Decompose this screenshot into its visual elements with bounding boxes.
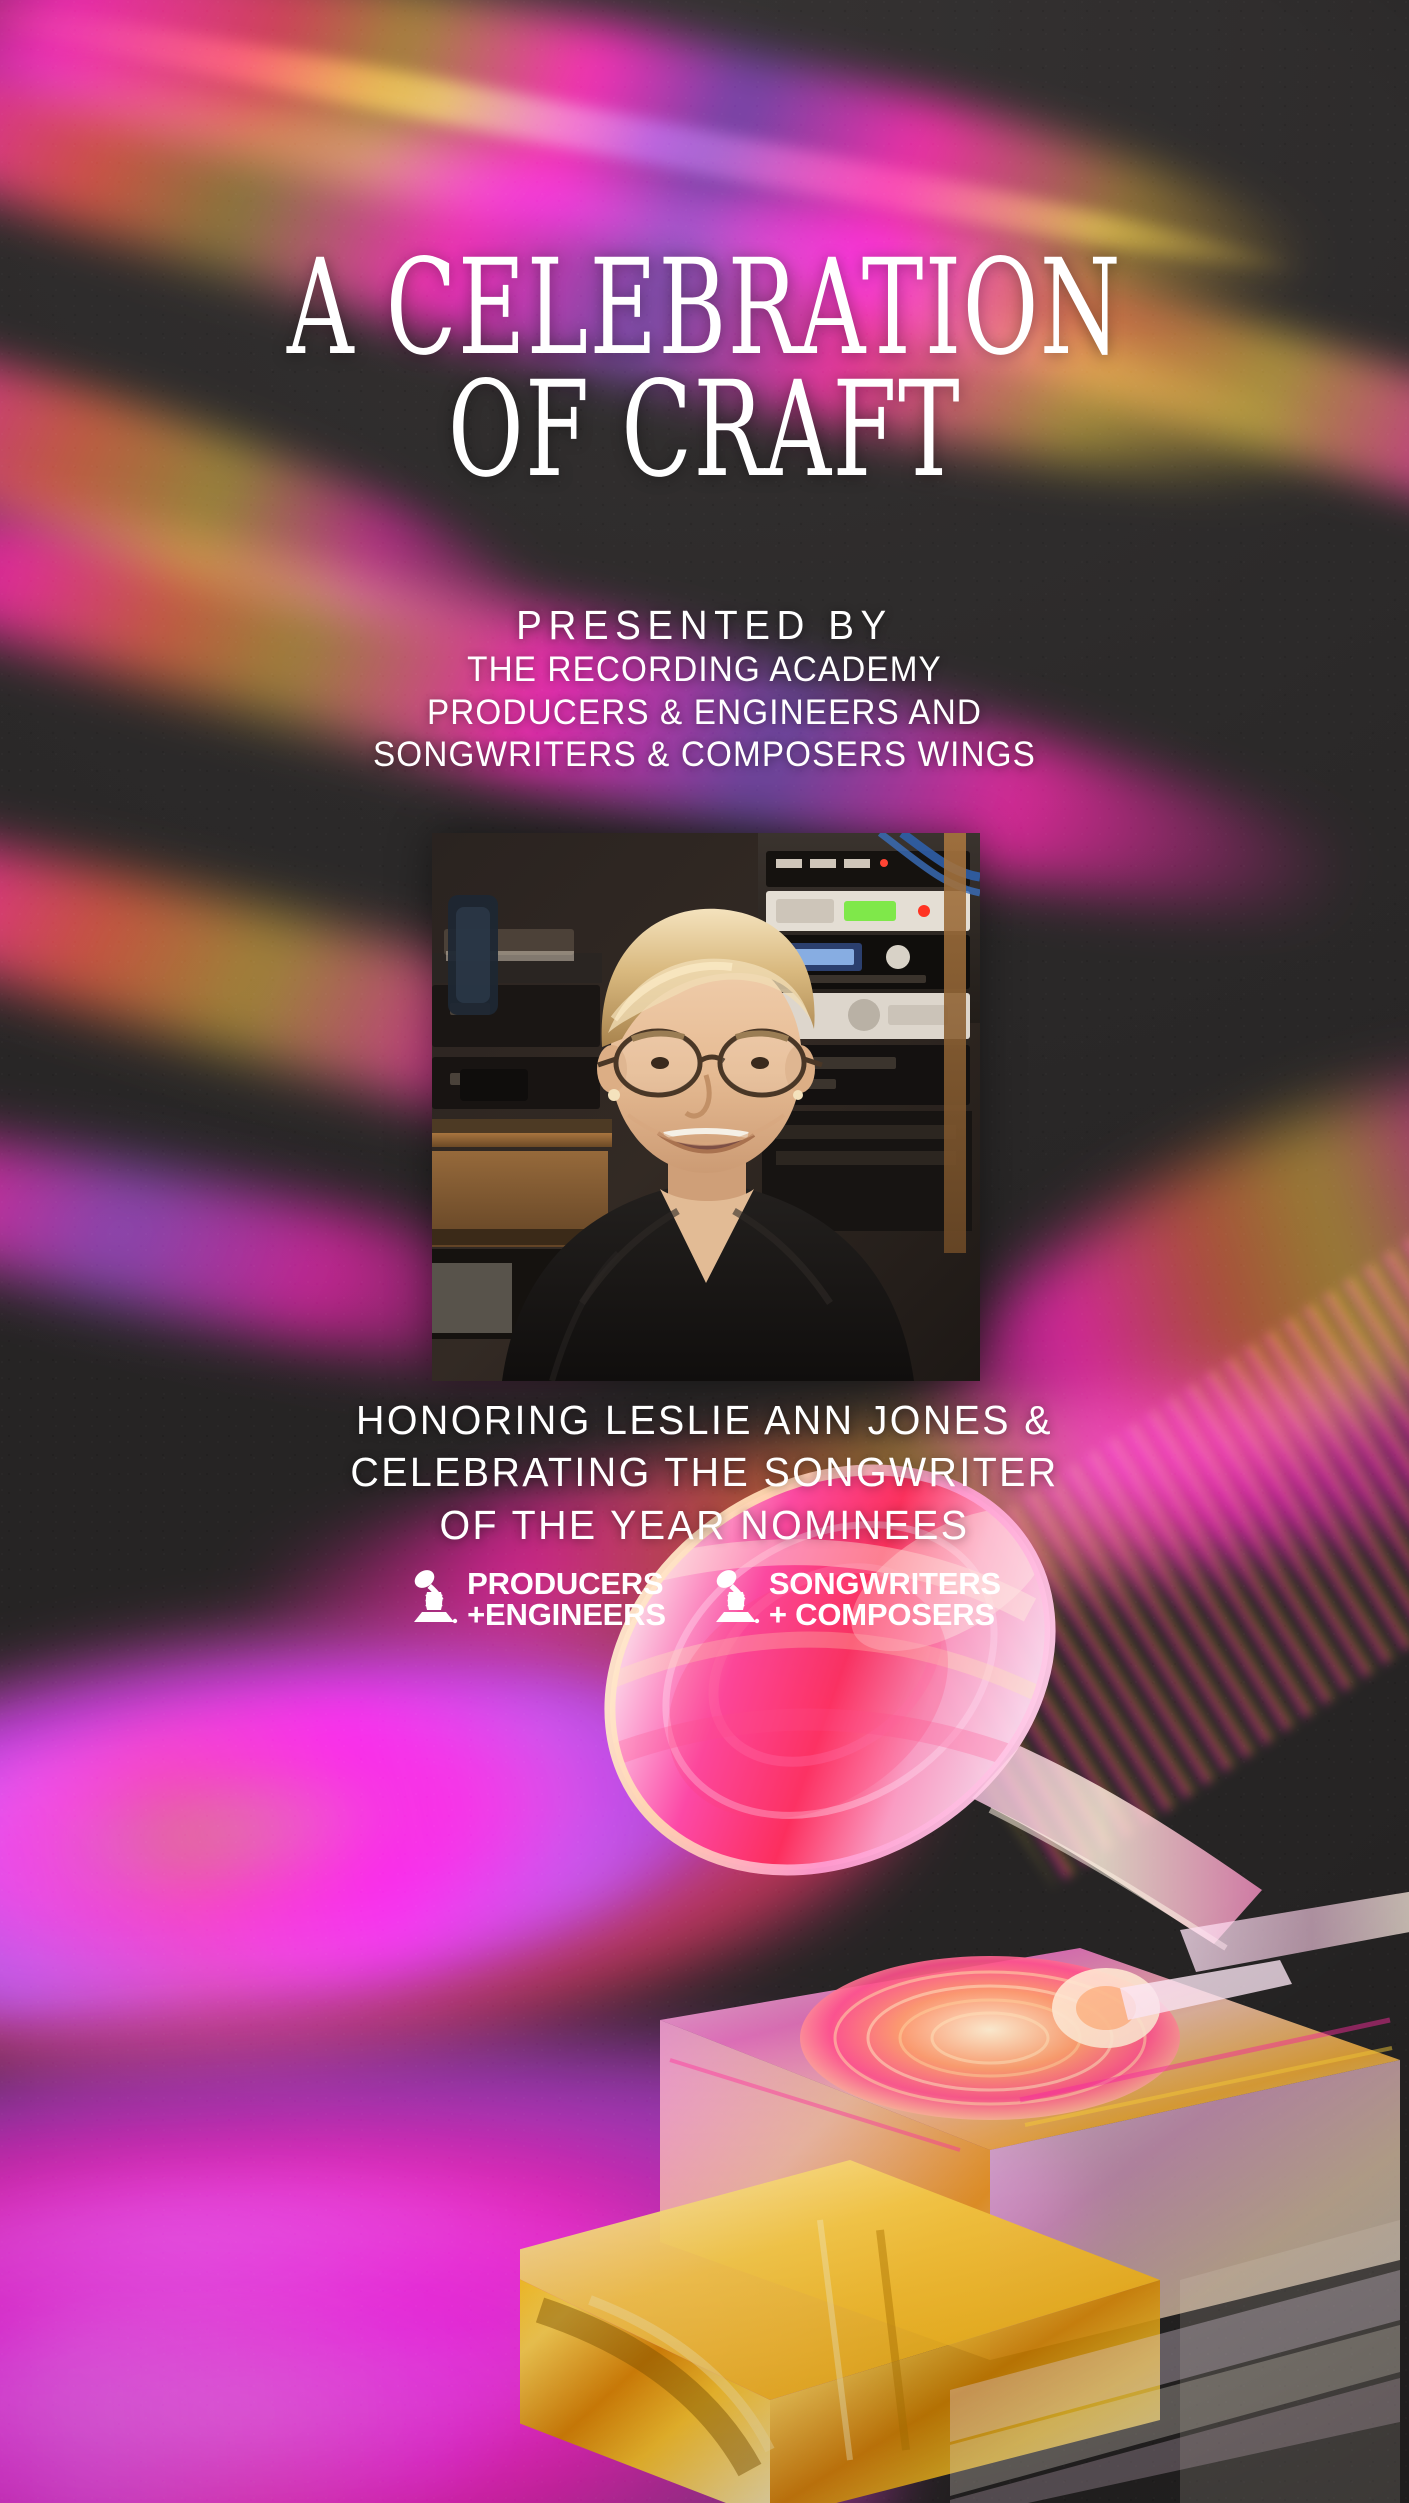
honoree-line-3: OF THE YEAR NOMINEES: [28, 1499, 1381, 1551]
honoree-line-2: CELEBRATING THE SONGWRITER: [28, 1446, 1381, 1498]
presented-by-label: PRESENTED BY: [42, 603, 1366, 649]
wing-logos: PRODUCERS +ENGINEERS: [0, 1568, 1409, 1631]
presenter-line-2: PRODUCERS & ENGINEERS AND: [35, 692, 1374, 735]
presented-by-block: PRESENTED BY THE RECORDING ACADEMY PRODU…: [0, 603, 1409, 777]
presenter-line-1: THE RECORDING ACADEMY: [35, 649, 1374, 692]
title-line-2: OF CRAFT: [211, 370, 1197, 491]
event-poster: A CELEBRATION OF CRAFT PRESENTED BY THE …: [0, 0, 1409, 2503]
wing-logo-text: PRODUCERS +ENGINEERS: [467, 1569, 666, 1629]
producers-engineers-wing-logo: PRODUCERS +ENGINEERS: [408, 1568, 666, 1631]
songwriters-composers-wing-logo: SONGWRITERS + COMPOSERS: [710, 1568, 1001, 1631]
honoree-block: HONORING LESLIE ANN JONES & CELEBRATING …: [0, 1394, 1409, 1551]
wing-logo-text: SONGWRITERS + COMPOSERS: [769, 1569, 1001, 1629]
wing-logo-line-2: + COMPOSERS: [769, 1600, 1001, 1630]
wing-logo-line-1: PRODUCERS: [467, 1569, 666, 1599]
wing-logo-line-1: SONGWRITERS: [769, 1569, 1001, 1599]
honoree-line-1: HONORING LESLIE ANN JONES &: [28, 1394, 1381, 1446]
wing-logo-line-2: +ENGINEERS: [467, 1600, 666, 1630]
grammy-gramophone-icon: [710, 1568, 762, 1631]
page-title: A CELEBRATION OF CRAFT: [211, 248, 1197, 491]
grammy-gramophone-icon: [408, 1568, 460, 1631]
portrait-illustration: [432, 833, 980, 1381]
honoree-portrait: [432, 833, 980, 1381]
presenter-line-3: SONGWRITERS & COMPOSERS WINGS: [35, 734, 1374, 777]
